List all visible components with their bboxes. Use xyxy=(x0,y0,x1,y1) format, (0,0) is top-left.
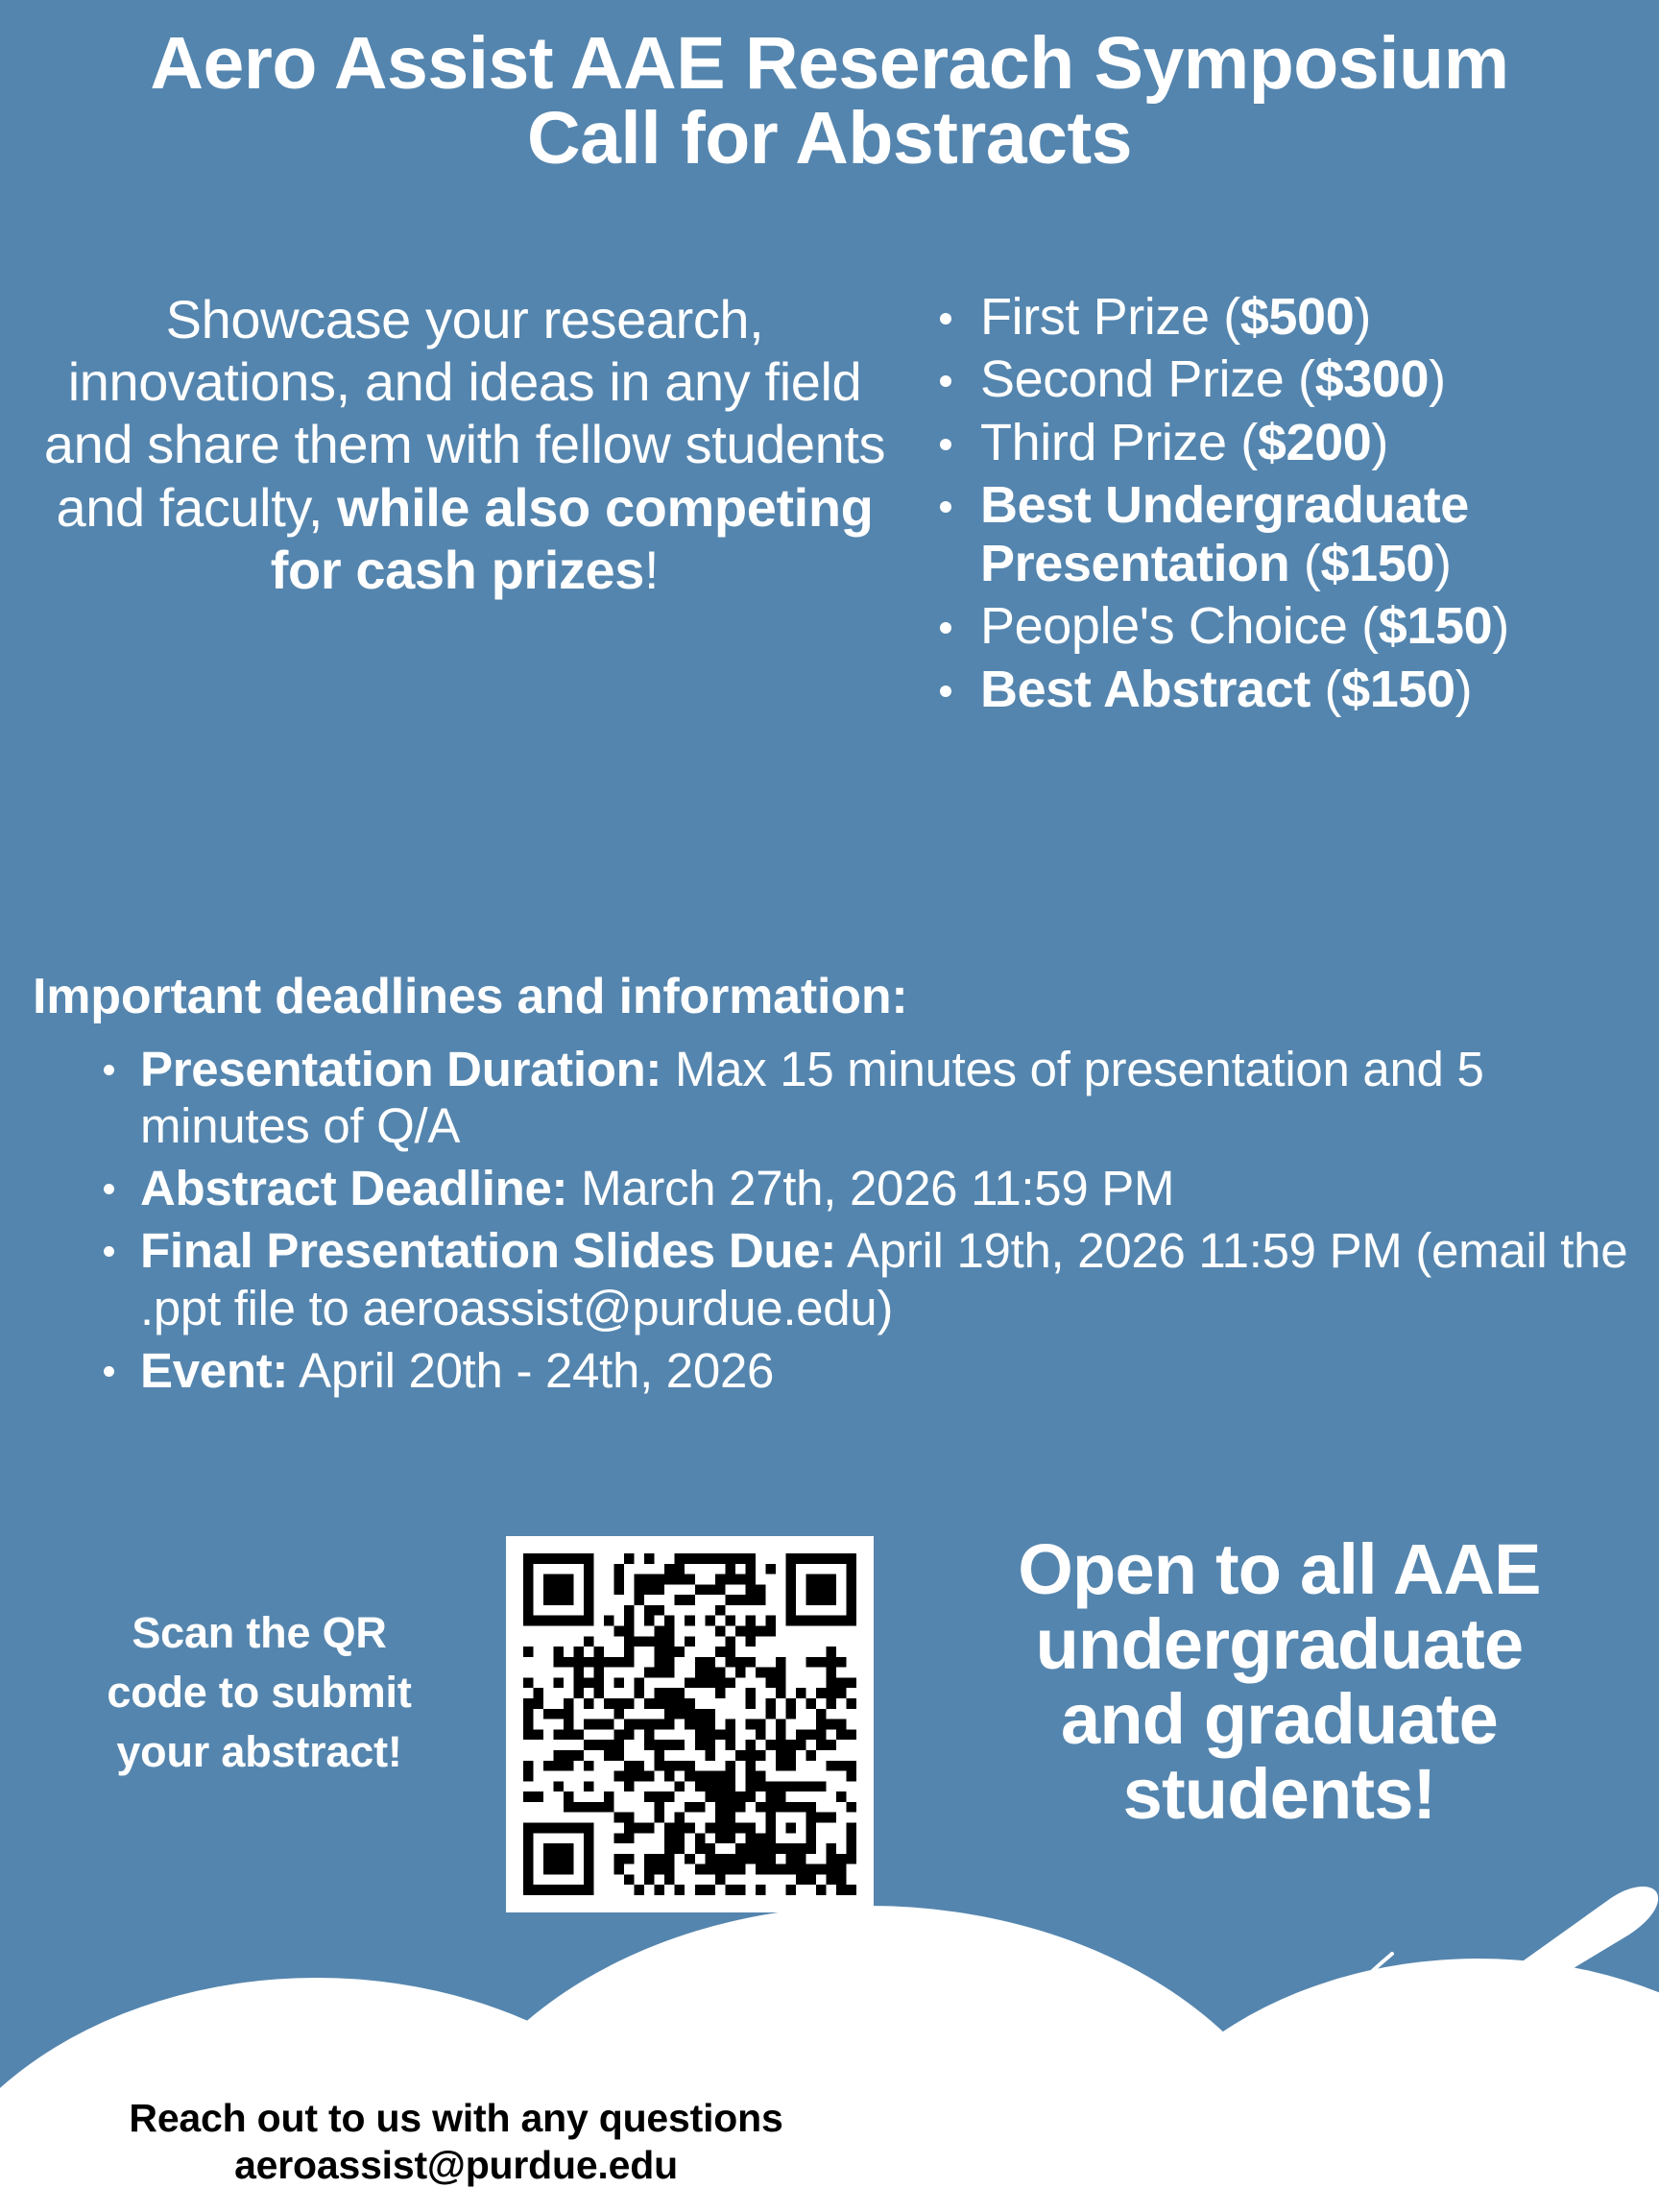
footer-contact: Reach out to us with any questions aeroa… xyxy=(29,2095,883,2189)
prize-list-item: Best Abstract ($150) xyxy=(926,661,1656,719)
bullet-icon xyxy=(940,375,951,387)
qr-code-icon[interactable] xyxy=(506,1536,874,1912)
prize-list-item: People's Choice ($150) xyxy=(926,597,1656,656)
scan-instruction-line-1: Scan the QR xyxy=(29,1603,490,1663)
eligibility-line-3: and graduate xyxy=(907,1682,1651,1757)
prize-list-section: First Prize ($500)Second Prize ($300)Thi… xyxy=(926,288,1656,723)
deadline-value: April 20th - 24th, 2026 xyxy=(288,1343,774,1398)
deadline-label: Final Presentation Slides Due: xyxy=(140,1223,836,1278)
prize-amount: $150 xyxy=(1341,661,1455,718)
prize-paren-open: ( xyxy=(1304,535,1321,592)
prize-amount: $150 xyxy=(1379,597,1493,655)
deadline-value: March 27th, 2026 11:59 PM xyxy=(567,1161,1174,1215)
bullet-icon xyxy=(104,1184,114,1194)
deadline-label: Abstract Deadline: xyxy=(140,1161,567,1215)
contrail-icon xyxy=(1018,1954,1392,2094)
prize-paren-open: ( xyxy=(1361,597,1379,655)
page-title: Aero Assist AAE Reserach Symposium Call … xyxy=(38,27,1621,177)
prize-name: Best Abstract xyxy=(980,661,1325,718)
qr-code-canvas[interactable] xyxy=(523,1553,856,1895)
prize-name: Second Prize xyxy=(980,350,1298,408)
prize-paren-close: ) xyxy=(1429,350,1446,408)
deadline-list: Presentation Duration: Max 15 minutes of… xyxy=(33,1041,1636,1399)
prize-name: First Prize xyxy=(980,288,1223,346)
airplane-icon xyxy=(1262,1857,1659,2182)
intro-bold-text: while also competing for cash prizes xyxy=(271,477,874,600)
bullet-icon xyxy=(940,501,951,513)
cloud-icon xyxy=(1094,1959,1659,2212)
scan-instruction-line-2: code to submit xyxy=(29,1663,490,1722)
eligibility-line-4: students! xyxy=(907,1757,1651,1832)
bullet-icon xyxy=(940,313,951,325)
prize-name: Third Prize xyxy=(980,414,1240,471)
deadline-label: Event: xyxy=(140,1343,288,1398)
prize-paren-open: ( xyxy=(1240,414,1258,471)
title-line-1: Aero Assist AAE Reserach Symposium xyxy=(38,27,1621,102)
prize-amount: $500 xyxy=(1240,288,1355,346)
footer-line-1: Reach out to us with any questions xyxy=(29,2095,883,2142)
footer-line-2: aeroassist@purdue.edu xyxy=(29,2142,883,2189)
prize-amount: $300 xyxy=(1315,350,1430,408)
scan-instruction-line-3: your abstract! xyxy=(29,1722,490,1782)
deadline-label: Presentation Duration: xyxy=(140,1042,661,1096)
deadline-list-item: Event: April 20th - 24th, 2026 xyxy=(33,1342,1636,1399)
bullet-icon xyxy=(104,1366,114,1377)
prize-paren-close: ) xyxy=(1455,661,1473,718)
prize-list-item: First Prize ($500) xyxy=(926,288,1656,347)
prize-amount: $150 xyxy=(1320,535,1434,592)
deadline-list-item: Final Presentation Slides Due: April 19t… xyxy=(33,1222,1636,1335)
prize-list: First Prize ($500)Second Prize ($300)Thi… xyxy=(926,288,1656,719)
bullet-icon xyxy=(940,622,951,634)
prize-list-item: Third Prize ($200) xyxy=(926,414,1656,472)
eligibility-line-2: undergraduate xyxy=(907,1607,1651,1682)
title-line-2: Call for Abstracts xyxy=(38,102,1621,177)
intro-paragraph: Showcase your research, innovations, and… xyxy=(33,288,897,601)
scan-instruction: Scan the QR code to submit your abstract… xyxy=(29,1603,490,1782)
prize-paren-close: ) xyxy=(1371,414,1388,471)
bullet-icon xyxy=(940,685,951,697)
eligibility-statement: Open to all AAE undergraduate and gradua… xyxy=(907,1532,1651,1832)
deadlines-heading: Important deadlines and information: xyxy=(33,968,1636,1025)
bullet-icon xyxy=(104,1246,114,1257)
prize-paren-close: ) xyxy=(1354,288,1371,346)
intro-trailing-text: ! xyxy=(644,540,659,600)
prize-paren-close: ) xyxy=(1492,597,1509,655)
deadline-list-item: Abstract Deadline: March 27th, 2026 11:5… xyxy=(33,1160,1636,1216)
bullet-icon xyxy=(940,439,951,450)
deadlines-section: Important deadlines and information: Pre… xyxy=(33,968,1636,1405)
prize-amount: $200 xyxy=(1258,414,1372,471)
eligibility-line-1: Open to all AAE xyxy=(907,1532,1651,1607)
prize-paren-close: ) xyxy=(1434,535,1452,592)
prize-list-item: Best Undergraduate Presentation ($150) xyxy=(926,476,1656,594)
deadline-list-item: Presentation Duration: Max 15 minutes of… xyxy=(33,1041,1636,1154)
prize-paren-open: ( xyxy=(1223,288,1240,346)
contrail-icon-2 xyxy=(1029,1970,1394,2108)
poster-canvas: Aero Assist AAE Reserach Symposium Call … xyxy=(0,0,1659,2212)
prize-list-item: Second Prize ($300) xyxy=(926,350,1656,409)
prize-name: People's Choice xyxy=(980,597,1361,655)
prize-paren-open: ( xyxy=(1325,661,1342,718)
bullet-icon xyxy=(104,1065,114,1075)
prize-paren-open: ( xyxy=(1298,350,1315,408)
